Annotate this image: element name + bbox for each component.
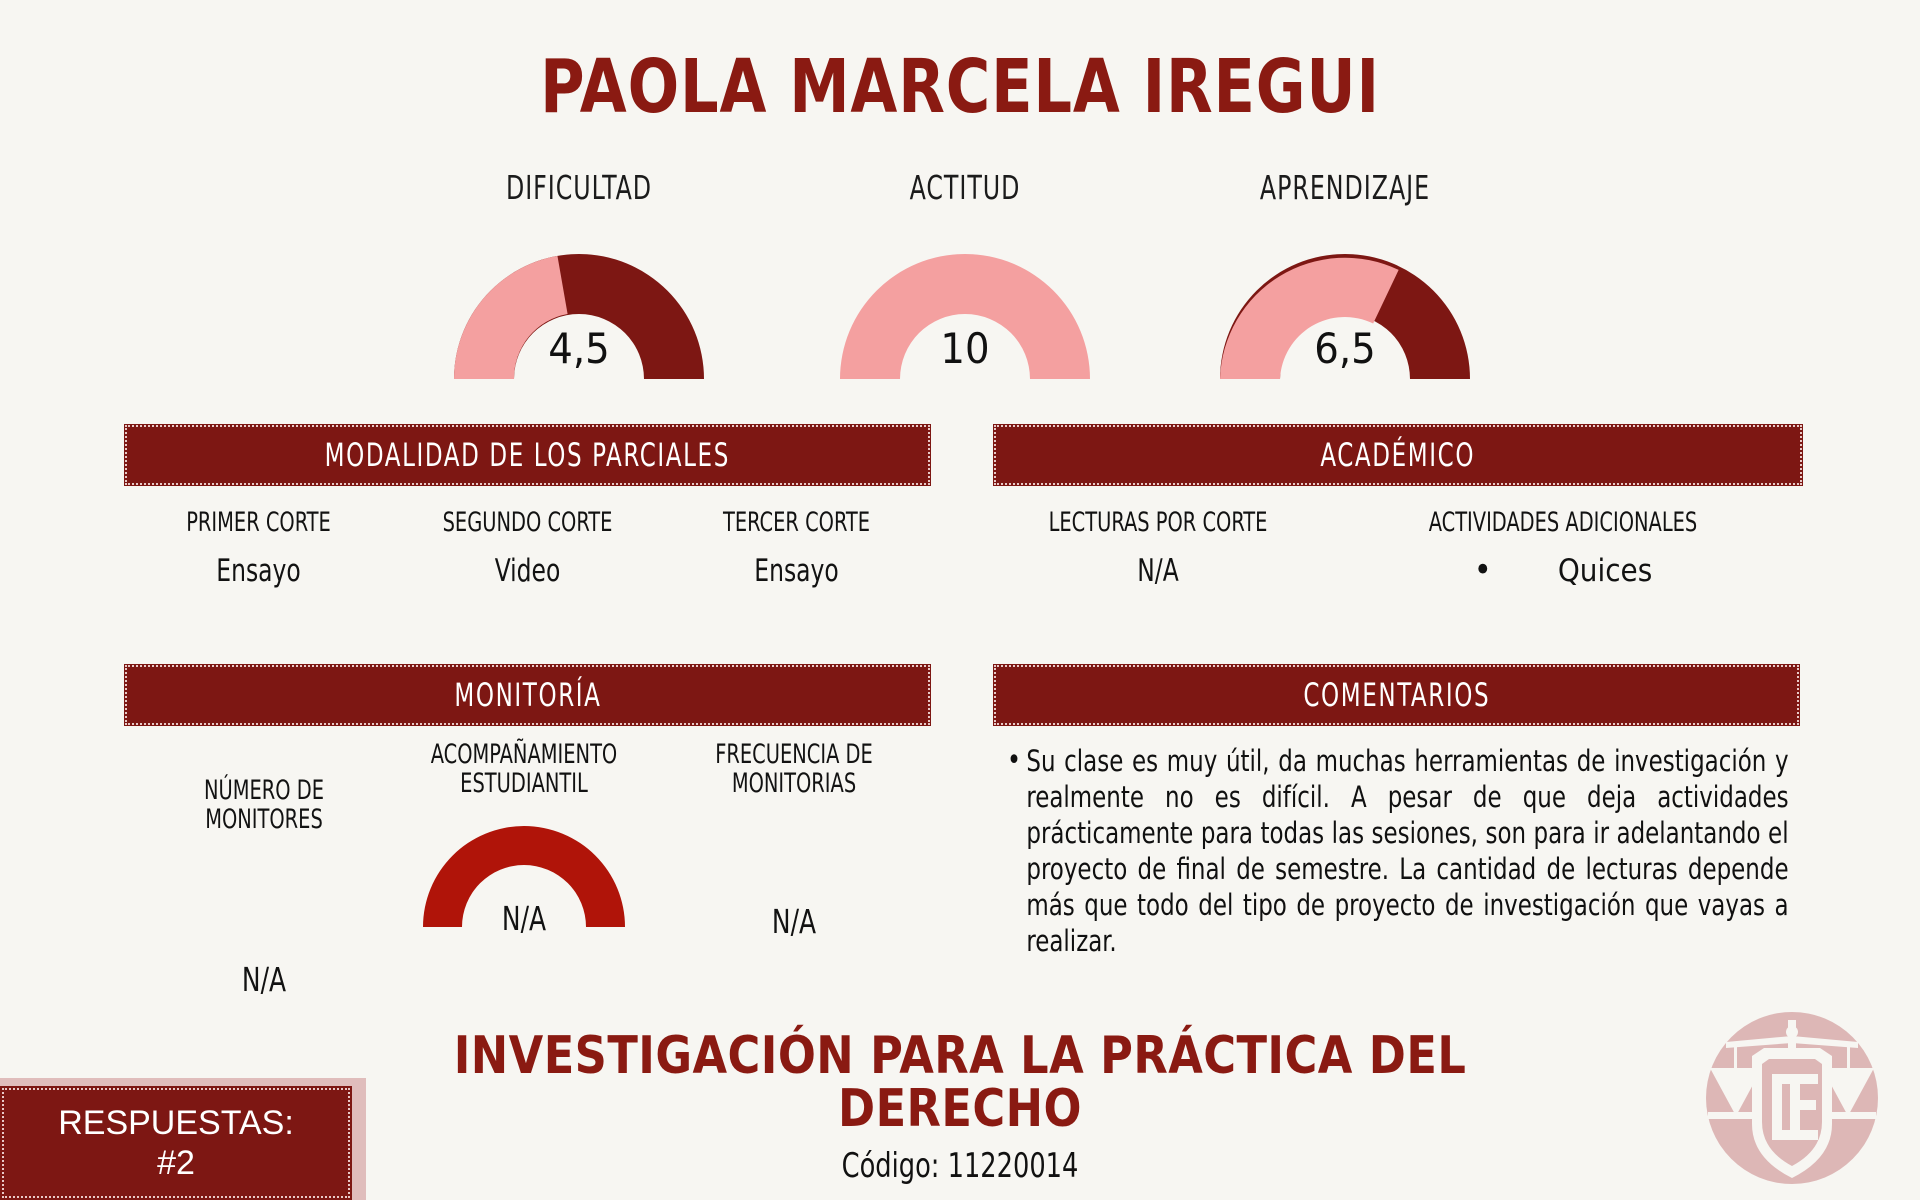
field-value-frecuencia-monitorias: N/A xyxy=(685,902,903,941)
gauge-dial-aprendizaje: 6,5 xyxy=(1180,229,1510,379)
gauge-actitud: ACTITUD 10 xyxy=(800,168,1130,379)
field-label-numero-monitores-line1: NÚMERO DE xyxy=(160,776,368,805)
course-title-line1: INVESTIGACIÓN PARA LA PRÁCTICA DEL xyxy=(392,1030,1527,1083)
bullet-icon: • xyxy=(1474,553,1492,587)
field-actividades-adicionales: ACTIVIDADES ADICIONALES • Quices xyxy=(1323,508,1803,589)
field-frecuencia-monitorias: FRECUENCIA DE MONITORIAS N/A xyxy=(664,740,924,941)
field-label-frecuencia-line2: MONITORIAS xyxy=(690,769,898,798)
field-label-primer-corte: PRIMER CORTE xyxy=(151,508,366,537)
section-academico: ACADÉMICO LECTURAS POR CORTE N/A ACTIVID… xyxy=(993,424,1803,589)
section-header-modalidad: MODALIDAD DE LOS PARCIALES xyxy=(124,424,931,486)
gauge-value-actitud: 10 xyxy=(813,324,1117,373)
section-comentarios: COMENTARIOS Su clase es muy útil, da muc… xyxy=(993,664,1800,960)
gauge-dificultad: DIFICULTAD 4,5 xyxy=(414,168,744,379)
course-title-line2: DERECHO xyxy=(392,1083,1527,1136)
gauge-dial-dificultad: 4,5 xyxy=(414,229,744,379)
field-numero-monitores: NÚMERO DE MONITORES N/A xyxy=(134,776,394,999)
field-value-numero-monitores: N/A xyxy=(155,960,373,999)
field-value-lecturas-por-corte: N/A xyxy=(1019,553,1296,589)
section-modalidad: MODALIDAD DE LOS PARCIALES PRIMER CORTE … xyxy=(124,424,931,589)
respuestas-count: #2 xyxy=(157,1143,195,1183)
actividad-item-quices: Quices xyxy=(1558,553,1652,589)
field-label-numero-monitores-line2: MONITORES xyxy=(160,805,368,834)
course-code: Código: 11220014 xyxy=(406,1146,1515,1186)
brand-logo xyxy=(1706,1012,1878,1184)
field-label-acompanamiento-line1: ACOMPAÑAMIENTO xyxy=(396,740,652,769)
monitoria-fields: NÚMERO DE MONITORES N/A ACOMPAÑAMIENTO E… xyxy=(124,740,931,990)
field-value-actividades-adicionales: • Quices xyxy=(1323,553,1803,589)
field-lecturas-por-corte: LECTURAS POR CORTE N/A xyxy=(993,508,1323,589)
gauge-value-aprendizaje: 6,5 xyxy=(1193,324,1497,373)
field-label-actividades-adicionales: ACTIVIDADES ADICIONALES xyxy=(1371,508,1755,537)
section-header-comentarios: COMENTARIOS xyxy=(993,664,1800,726)
field-label-tercer-corte: TERCER CORTE xyxy=(689,508,904,537)
field-label-acompanamiento-line2: ESTUDIANTIL xyxy=(396,769,652,798)
field-value-segundo-corte: Video xyxy=(415,553,641,589)
infographic-canvas: PAOLA MARCELA IREGUI DIFICULTAD 4,5 ACTI… xyxy=(0,0,1920,1200)
field-label-lecturas-por-corte: LECTURAS POR CORTE xyxy=(1026,508,1290,537)
field-label-frecuencia-line1: FRECUENCIA DE xyxy=(690,740,898,769)
modalidad-fields: PRIMER CORTE Ensayo SEGUNDO CORTE Video … xyxy=(124,508,931,589)
list-item: Su clase es muy útil, da muchas herramie… xyxy=(1007,744,1789,960)
field-primer-corte: PRIMER CORTE Ensayo xyxy=(124,508,393,589)
section-header-comentarios-label: COMENTARIOS xyxy=(1303,676,1490,714)
gauge-label-actitud: ACTITUD xyxy=(833,168,1097,207)
field-tercer-corte: TERCER CORTE Ensayo xyxy=(662,508,931,589)
field-segundo-corte: SEGUNDO CORTE Video xyxy=(393,508,662,589)
ratings-gauges: DIFICULTAD 4,5 ACTITUD 10 APRENDIZAJE xyxy=(0,168,1920,398)
gauge-value-dificultad: 4,5 xyxy=(427,324,731,373)
gauge-aprendizaje: APRENDIZAJE 6,5 xyxy=(1180,168,1510,379)
respuestas-badge: RESPUESTAS: #2 xyxy=(0,1086,352,1200)
comentarios-list: Su clase es muy útil, da muchas herramie… xyxy=(993,744,1800,960)
gauge-label-aprendizaje: APRENDIZAJE xyxy=(1213,168,1477,207)
field-acompanamiento-estudiantil: ACOMPAÑAMIENTO ESTUDIANTIL N/A xyxy=(364,740,684,942)
section-header-academico-label: ACADÉMICO xyxy=(1321,436,1476,474)
field-value-acompanamiento: N/A xyxy=(415,899,633,938)
field-value-tercer-corte: Ensayo xyxy=(684,553,910,589)
page-title: PAOLA MARCELA IREGUI xyxy=(173,44,1747,130)
respuestas-label: RESPUESTAS: xyxy=(58,1103,294,1143)
course-title: INVESTIGACIÓN PARA LA PRÁCTICA DEL DEREC… xyxy=(392,1030,1527,1136)
section-header-modalidad-label: MODALIDAD DE LOS PARCIALES xyxy=(325,436,730,474)
scales-of-justice-icon xyxy=(1706,1012,1878,1184)
academico-fields: LECTURAS POR CORTE N/A ACTIVIDADES ADICI… xyxy=(993,508,1803,589)
section-header-academico: ACADÉMICO xyxy=(993,424,1803,486)
section-header-monitoria-label: MONITORÍA xyxy=(454,676,601,714)
field-label-segundo-corte: SEGUNDO CORTE xyxy=(420,508,635,537)
gauge-dial-actitud: 10 xyxy=(800,229,1130,379)
section-header-monitoria: MONITORÍA xyxy=(124,664,931,726)
field-value-primer-corte: Ensayo xyxy=(146,553,372,589)
respuestas-badge-frame: RESPUESTAS: #2 xyxy=(0,1078,366,1200)
gauge-dial-acompanamiento: N/A xyxy=(394,812,654,942)
section-monitoria: MONITORÍA NÚMERO DE MONITORES N/A ACOMPA… xyxy=(124,664,931,990)
gauge-label-dificultad: DIFICULTAD xyxy=(447,168,711,207)
